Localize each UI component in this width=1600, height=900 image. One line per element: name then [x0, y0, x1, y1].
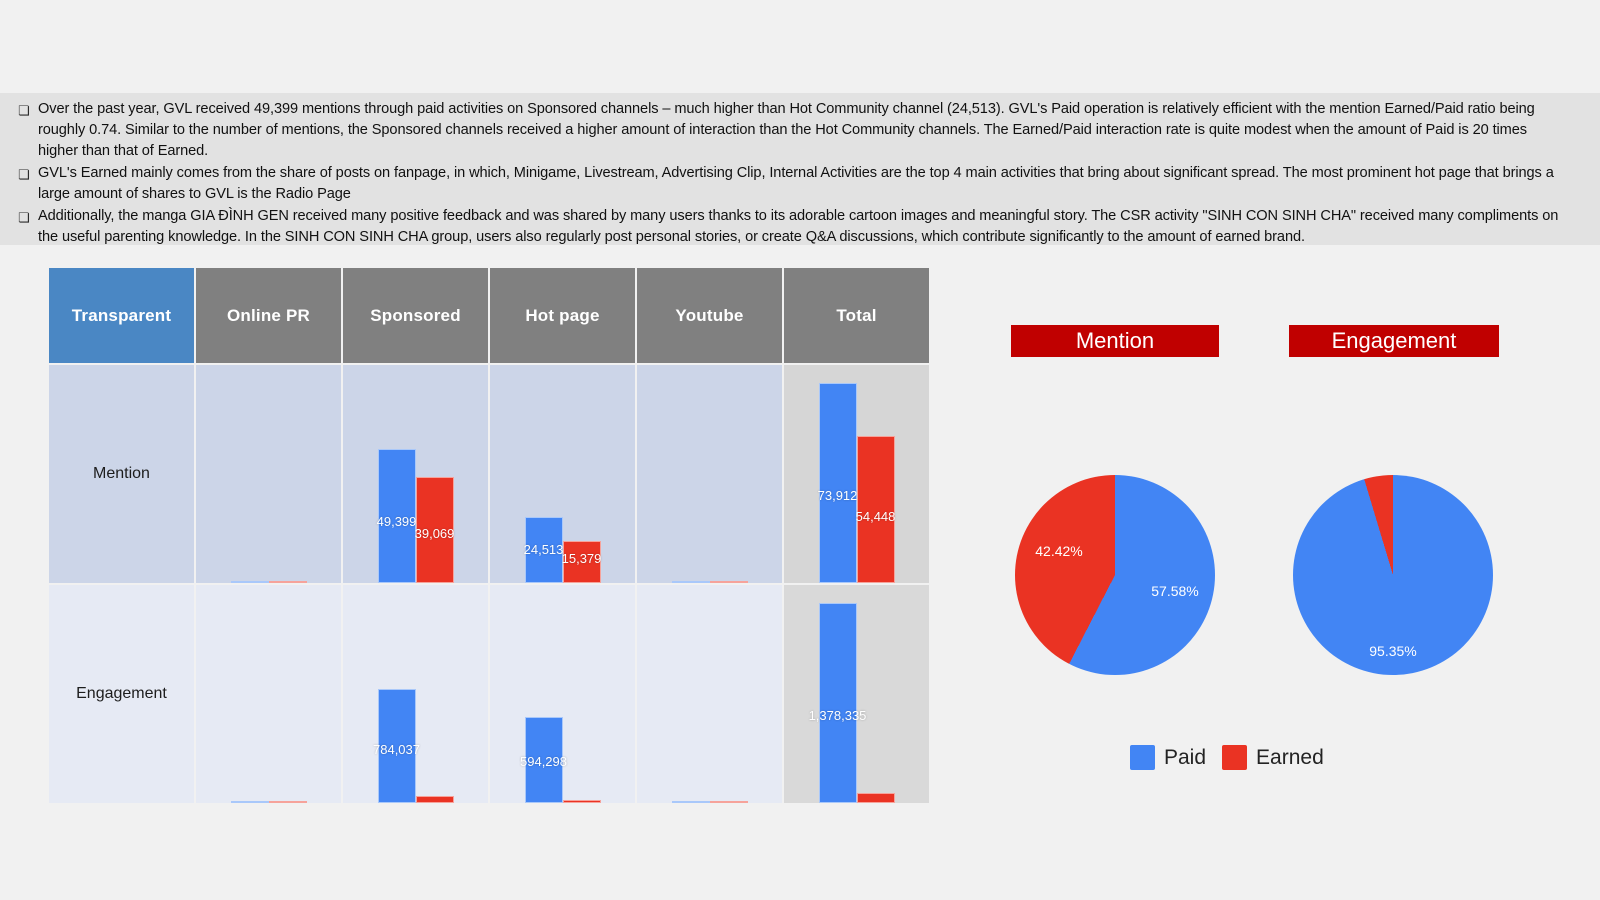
bar-fill	[857, 436, 895, 583]
bar-fill	[563, 800, 601, 803]
matrix-row-label-engagement: Engagement	[49, 585, 194, 803]
mini-bar-chart: 2,4001,200	[637, 585, 782, 803]
insight-bullet: ❏ Over the past year, GVL received 49,39…	[10, 99, 1570, 162]
legend-label-paid: Paid	[1164, 746, 1206, 770]
bar-fill	[672, 801, 710, 803]
matrix-corner-header: Transparent	[49, 268, 194, 363]
bar-fill	[269, 801, 307, 803]
pie-chart-mention	[1015, 475, 1215, 675]
matrix-row: Engagement2,1001,500784,03745,123594,298…	[49, 585, 929, 803]
bar-fill	[378, 689, 416, 803]
legend-swatch-earned-icon	[1222, 745, 1247, 770]
mini-bar-chart: 188120	[637, 365, 782, 583]
bar-earned: 54,448	[857, 436, 895, 583]
matrix-cell-engagement-total: 1,378,33567,229	[784, 585, 929, 803]
bar-paid: 49,399	[378, 449, 416, 583]
insight-bullet-text: Additionally, the manga GIA ĐÌNH GEN rec…	[38, 206, 1570, 248]
matrix-header-row: Transparent Online PR Sponsored Hot page…	[49, 268, 929, 363]
mini-bar-chart: 73,91254,448	[784, 365, 929, 583]
share-pies-panel: Mention Engagement 57.58% 42.42% 95.35% …	[985, 325, 1565, 785]
bar-earned: 1,200	[710, 801, 748, 803]
matrix-cell-engagement-online-pr: 2,1001,500	[196, 585, 341, 803]
pie-title-mention: Mention	[1011, 325, 1219, 357]
bar-earned: 15,379	[563, 541, 601, 583]
bullet-square-icon: ❏	[10, 163, 38, 185]
bar-fill	[525, 517, 563, 583]
matrix-cell-mention-youtube: 188120	[637, 365, 782, 583]
bar-fill	[269, 581, 307, 583]
bar-fill	[231, 801, 269, 803]
bar-fill	[416, 477, 454, 583]
matrix-row: Mention21216749,39939,06924,51315,379188…	[49, 365, 929, 583]
mini-bar-chart: 784,03745,123	[343, 585, 488, 803]
bar-fill	[672, 581, 710, 583]
mini-bar-chart: 212167	[196, 365, 341, 583]
bar-fill	[710, 801, 748, 803]
bar-fill	[857, 793, 895, 803]
pie-label-engagement-paid: 95.35%	[1369, 643, 1416, 659]
bar-fill	[563, 541, 601, 583]
insight-bullet: ❏ Additionally, the manga GIA ĐÌNH GEN r…	[10, 206, 1570, 248]
matrix-cell-engagement-sponsored: 784,03745,123	[343, 585, 488, 803]
bar-paid: 212	[231, 581, 269, 583]
bar-fill	[416, 796, 454, 803]
matrix-column-header-total: Total	[784, 268, 929, 363]
pie-label-mention-paid: 57.58%	[1151, 583, 1198, 599]
bar-earned: 22,106	[563, 800, 601, 803]
matrix-column-header-online-pr: Online PR	[196, 268, 341, 363]
bar-earned: 1,500	[269, 801, 307, 803]
matrix-cell-mention-total: 73,91254,448	[784, 365, 929, 583]
matrix-cell-engagement-hot-page: 594,29822,106	[490, 585, 635, 803]
matrix-body: Mention21216749,39939,06924,51315,379188…	[49, 365, 929, 803]
matrix-row-label-mention: Mention	[49, 365, 194, 583]
bullet-square-icon: ❏	[10, 206, 38, 228]
bar-earned: 67,229	[857, 793, 895, 803]
channel-matrix-table: Transparent Online PR Sponsored Hot page…	[47, 266, 931, 805]
matrix-cell-mention-hot-page: 24,51315,379	[490, 365, 635, 583]
legend-label-earned: Earned	[1256, 746, 1324, 770]
bar-fill	[231, 581, 269, 583]
mini-bar-chart: 2,1001,500	[196, 585, 341, 803]
legend-swatch-paid-icon	[1130, 745, 1155, 770]
bar-paid: 73,912	[819, 383, 857, 583]
bar-fill	[819, 603, 857, 803]
bar-fill	[378, 449, 416, 583]
bar-paid: 784,037	[378, 689, 416, 803]
bar-earned: 39,069	[416, 477, 454, 583]
bar-earned: 120	[710, 581, 748, 583]
bar-paid: 1,378,335	[819, 603, 857, 803]
pie-legend: Paid Earned	[1130, 745, 1324, 770]
mini-bar-chart: 49,39939,069	[343, 365, 488, 583]
channel-matrix-panel: Transparent Online PR Sponsored Hot page…	[47, 266, 931, 797]
mini-bar-chart: 1,378,33567,229	[784, 585, 929, 803]
bar-paid: 2,400	[672, 801, 710, 803]
bar-paid: 188	[672, 581, 710, 583]
matrix-column-header-sponsored: Sponsored	[343, 268, 488, 363]
insight-bullet: ❏ GVL's Earned mainly comes from the sha…	[10, 163, 1570, 205]
bar-fill	[710, 581, 748, 583]
mini-bar-chart: 24,51315,379	[490, 365, 635, 583]
matrix-cell-mention-online-pr: 212167	[196, 365, 341, 583]
bar-earned: 45,123	[416, 796, 454, 803]
legend-item-earned: Earned	[1222, 745, 1324, 770]
bullet-square-icon: ❏	[10, 99, 38, 121]
insight-bullet-text: GVL's Earned mainly comes from the share…	[38, 163, 1570, 205]
bar-fill	[819, 383, 857, 583]
bar-paid: 24,513	[525, 517, 563, 583]
bar-earned: 167	[269, 581, 307, 583]
insights-panel: ❏ Over the past year, GVL received 49,39…	[0, 93, 1600, 245]
bar-fill	[525, 717, 563, 803]
matrix-cell-mention-sponsored: 49,39939,069	[343, 365, 488, 583]
pie-title-engagement: Engagement	[1289, 325, 1499, 357]
insight-bullet-text: Over the past year, GVL received 49,399 …	[38, 99, 1570, 162]
legend-item-paid: Paid	[1130, 745, 1206, 770]
matrix-column-header-youtube: Youtube	[637, 268, 782, 363]
bar-paid: 594,298	[525, 717, 563, 803]
bar-paid: 2,100	[231, 801, 269, 803]
pie-label-mention-earned: 42.42%	[1035, 543, 1082, 559]
matrix-column-header-hot-page: Hot page	[490, 268, 635, 363]
mini-bar-chart: 594,29822,106	[490, 585, 635, 803]
matrix-cell-engagement-youtube: 2,4001,200	[637, 585, 782, 803]
